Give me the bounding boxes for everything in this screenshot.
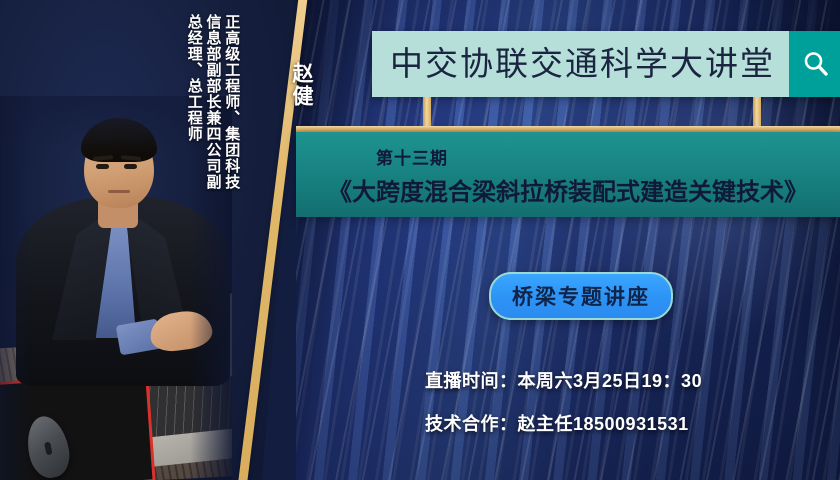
mouse-pad [0,371,156,480]
topic-badge-label: 桥梁专题讲座 [512,281,650,311]
credentials-block: 正高级工程师、集团科技 信息部副部长兼四公司副 总经理、总工程师 [186,14,239,190]
gold-stem-left [423,97,431,129]
mouth [108,190,130,193]
search-icon-box[interactable] [789,31,840,97]
webinar-poster: 正高级工程师、集团科技 信息部副部长兼四公司副 总经理、总工程师 赵健 中交协联… [0,0,840,480]
search-icon [801,49,831,79]
subtitle-panel: 第十三期 《大跨度混合梁斜拉桥装配式建造关键技术》 [296,132,840,217]
eye-left [96,164,109,169]
lecture-topic: 《大跨度混合梁斜拉桥装配式建造关键技术》 [296,172,840,207]
eye-right [124,164,137,169]
speaker-name: 赵健 [286,62,316,108]
broadcast-time: 直播时间：本周六3月25日19：30 [425,367,702,393]
title-banner: 中交协联交通科学大讲堂 [372,31,840,97]
cooperation-contact: 技术合作：赵主任18500931531 [425,410,689,436]
credential-line-1: 正高级工程师、集团科技 [224,14,240,190]
credential-line-2: 信息部副部长兼四公司副 [205,14,221,190]
banner-title: 中交协联交通科学大讲堂 [372,31,789,97]
credential-line-3: 总经理、总工程师 [186,14,202,142]
topic-badge[interactable]: 桥梁专题讲座 [489,272,673,320]
gold-stem-right [753,97,761,129]
issue-number: 第十三期 [376,144,448,169]
